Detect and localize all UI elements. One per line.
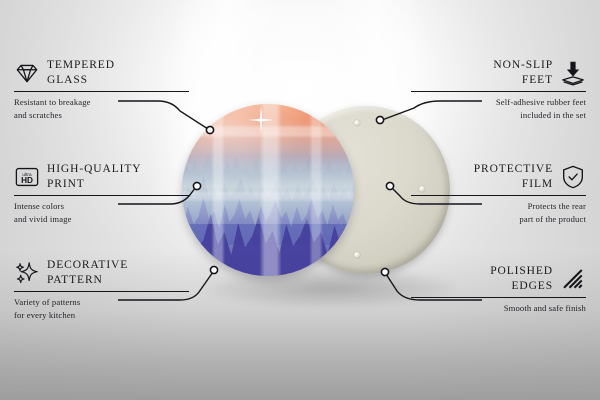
feature-divider	[14, 291, 189, 292]
feature-divider	[411, 297, 586, 298]
feature-non-slip-feet: NON-SLIP FEET Self-adhesive rubber feet …	[411, 58, 586, 121]
svg-text:HD: HD	[21, 176, 33, 185]
feature-divider	[14, 195, 189, 196]
feature-divider	[411, 91, 586, 92]
feature-protective-film: PROTECTIVE FILM Protects the rear part o…	[411, 162, 586, 225]
rubber-foot	[354, 120, 360, 126]
feature-description: Intense colors and vivid image	[14, 200, 189, 225]
feature-high-quality-print: ultra HD HIGH-QUALITY PRINT Intense colo…	[14, 162, 189, 225]
feature-description: Self-adhesive rubber feet included in th…	[411, 96, 586, 121]
front-disc-printed	[182, 104, 354, 276]
feature-title: NON-SLIP FEET	[493, 58, 553, 88]
feature-divider	[14, 91, 189, 92]
feature-tempered-glass: TEMPERED GLASS Resistant to breakage and…	[14, 58, 189, 121]
feature-title: POLISHED EDGES	[490, 264, 553, 294]
rubber-foot	[354, 252, 360, 258]
shield-check-icon	[560, 164, 586, 190]
feature-title: PROTECTIVE FILM	[474, 162, 553, 192]
product-infographic: TEMPERED GLASS Resistant to breakage and…	[0, 0, 600, 400]
feature-description: Protects the rear part of the product	[411, 200, 586, 225]
feature-decorative-pattern: DECORATIVE PATTERN Variety of patterns f…	[14, 258, 189, 321]
feature-divider	[411, 195, 586, 196]
feature-description: Resistant to breakage and scratches	[14, 96, 189, 121]
feature-title: TEMPERED GLASS	[47, 58, 115, 88]
arrow-down-pad-icon	[560, 60, 586, 86]
feature-description: Variety of patterns for every kitchen	[14, 296, 189, 321]
diamond-icon	[14, 60, 40, 86]
ultra-hd-icon: ultra HD	[14, 164, 40, 190]
feature-title: HIGH-QUALITY PRINT	[47, 162, 141, 192]
glass-glint-icon	[248, 107, 274, 133]
striped-triangle-icon	[560, 266, 586, 292]
feature-polished-edges: POLISHED EDGES Smooth and safe finish	[411, 264, 586, 315]
feature-description: Smooth and safe finish	[411, 302, 586, 314]
feature-title: DECORATIVE PATTERN	[47, 258, 128, 288]
sparkles-icon	[14, 260, 40, 286]
